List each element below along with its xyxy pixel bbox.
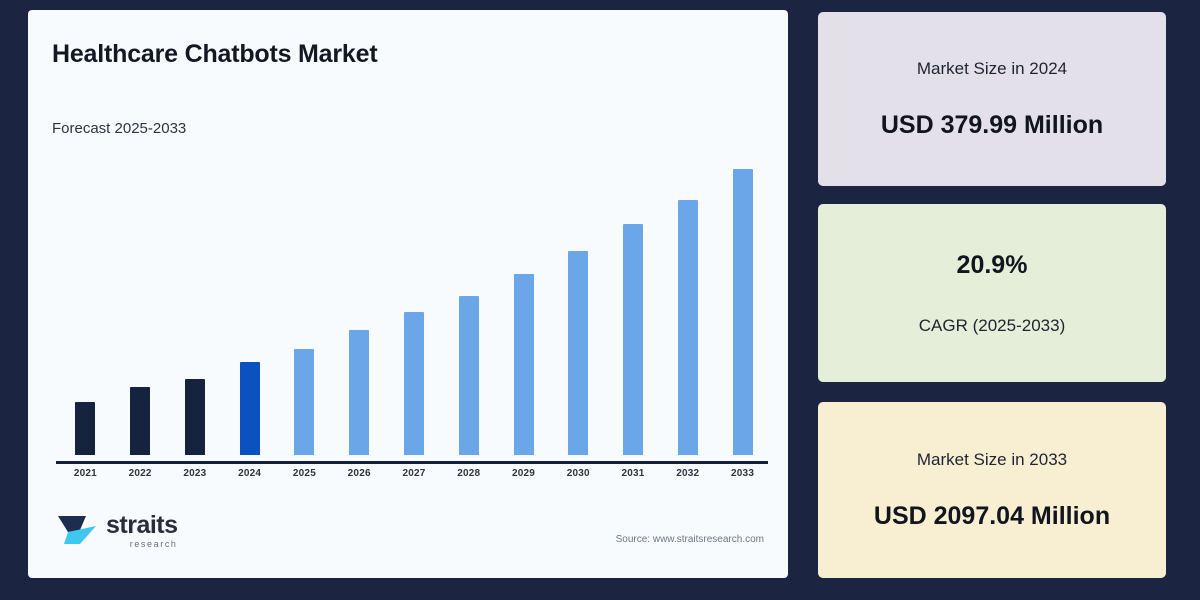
stat-card-market-2033: Market Size in 2033 USD 2097.04 Million bbox=[818, 402, 1166, 578]
logo-text-block: straits research bbox=[106, 513, 178, 549]
bar-slot bbox=[661, 150, 715, 455]
bar-2033 bbox=[733, 169, 753, 455]
bar-2024 bbox=[240, 362, 260, 455]
bar-2030 bbox=[568, 251, 588, 455]
x-axis-label-2030: 2030 bbox=[551, 468, 605, 479]
stat-card-label: CAGR (2025-2033) bbox=[919, 316, 1065, 336]
stat-card-market-2024: Market Size in 2024 USD 379.99 Million bbox=[818, 12, 1166, 186]
logo-name: straits bbox=[106, 513, 178, 538]
x-axis-label-2021: 2021 bbox=[58, 468, 112, 479]
panel-subtitle: Forecast 2025-2033 bbox=[52, 120, 186, 137]
x-axis-label-2033: 2033 bbox=[716, 468, 770, 479]
bar-2028 bbox=[459, 296, 479, 455]
brand-logo: straits research bbox=[56, 510, 178, 552]
bar-2029 bbox=[514, 274, 534, 455]
bar-slot bbox=[442, 150, 496, 455]
bar-slot bbox=[387, 150, 441, 455]
x-axis-label-2032: 2032 bbox=[661, 468, 715, 479]
page-title: Healthcare Chatbots Market bbox=[52, 40, 377, 69]
source-attribution: Source: www.straitsresearch.com bbox=[616, 534, 764, 545]
bar-slot bbox=[277, 150, 331, 455]
bar-slot bbox=[113, 150, 167, 455]
chart-panel: Healthcare Chatbots Market Forecast 2025… bbox=[28, 10, 788, 578]
bar-slot bbox=[606, 150, 660, 455]
x-axis-label-2027: 2027 bbox=[387, 468, 441, 479]
stat-card-label: Market Size in 2033 bbox=[917, 450, 1067, 470]
x-axis-label-2022: 2022 bbox=[113, 468, 167, 479]
bar-slot bbox=[168, 150, 222, 455]
bar-2026 bbox=[349, 330, 369, 455]
stat-card-value: USD 2097.04 Million bbox=[874, 502, 1110, 531]
bar-slot bbox=[223, 150, 277, 455]
logo-subtitle: research bbox=[106, 540, 178, 549]
x-axis-labels: 2021202220232024202520262027202820292030… bbox=[58, 468, 770, 479]
bar-slot bbox=[332, 150, 386, 455]
bar-2021 bbox=[75, 402, 95, 455]
x-axis-label-2031: 2031 bbox=[606, 468, 660, 479]
x-axis-label-2024: 2024 bbox=[223, 468, 277, 479]
x-axis-label-2025: 2025 bbox=[277, 468, 331, 479]
x-axis-label-2028: 2028 bbox=[442, 468, 496, 479]
stat-card-label: Market Size in 2024 bbox=[917, 59, 1067, 79]
bar-2025 bbox=[294, 349, 314, 455]
bar-chart bbox=[58, 150, 770, 455]
stat-card-list: Market Size in 2024 USD 379.99 Million 2… bbox=[818, 12, 1166, 578]
bar-slot bbox=[716, 150, 770, 455]
stat-card-value: 20.9% bbox=[957, 251, 1028, 280]
bar-slot bbox=[497, 150, 551, 455]
stat-card-value: USD 379.99 Million bbox=[881, 111, 1103, 140]
bar-series bbox=[58, 150, 770, 455]
x-axis-line bbox=[56, 461, 768, 464]
x-axis-label-2026: 2026 bbox=[332, 468, 386, 479]
bar-slot bbox=[551, 150, 605, 455]
x-axis-label-2023: 2023 bbox=[168, 468, 222, 479]
stat-card-cagr: 20.9% CAGR (2025-2033) bbox=[818, 204, 1166, 382]
bar-2027 bbox=[404, 312, 424, 455]
bar-slot bbox=[58, 150, 112, 455]
bar-2031 bbox=[623, 224, 643, 455]
bar-2022 bbox=[130, 387, 150, 455]
straits-arrow-logo-icon bbox=[56, 510, 102, 552]
bar-2032 bbox=[678, 200, 698, 455]
x-axis-label-2029: 2029 bbox=[497, 468, 551, 479]
infographic-root: Healthcare Chatbots Market Forecast 2025… bbox=[0, 0, 1200, 600]
bar-2023 bbox=[185, 379, 205, 455]
